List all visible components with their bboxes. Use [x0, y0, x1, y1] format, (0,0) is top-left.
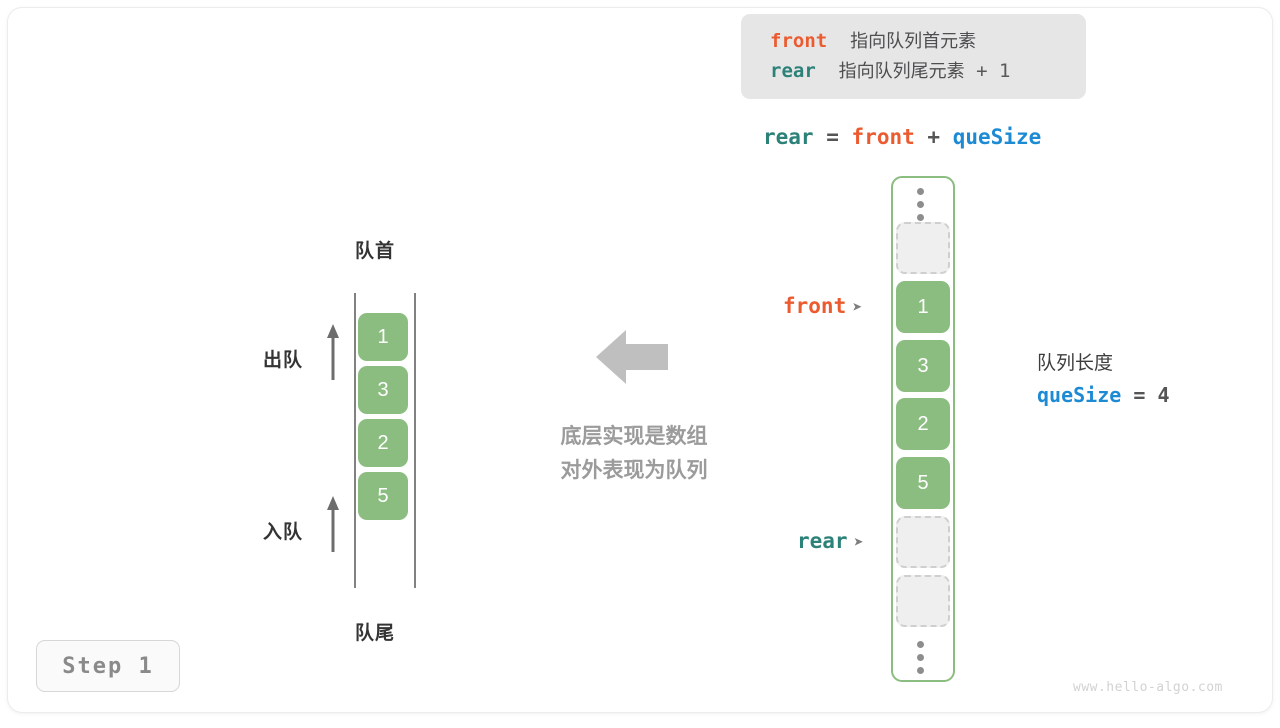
dequeue-label: 出队 — [263, 345, 303, 372]
queue-rail-left — [354, 293, 356, 588]
array-cell-empty — [896, 516, 950, 568]
legend-panel: front 指向队列首元素 rear 指向队列尾元素 + 1 — [741, 14, 1086, 99]
enqueue-label: 入队 — [263, 517, 303, 544]
array-cell-empty — [896, 575, 950, 627]
array-cell-filled: 3 — [896, 340, 950, 392]
queue-size-name: queSize — [1037, 383, 1121, 407]
queue-cell: 2 — [358, 419, 408, 467]
array-cell-empty — [896, 222, 950, 274]
rear-pointer-arrow-icon: ➤ — [854, 533, 864, 553]
center-caption: 底层实现是数组 对外表现为队列 — [536, 420, 732, 488]
rear-pointer: rear➤ — [797, 529, 864, 553]
dequeue-arrow-icon — [325, 324, 341, 380]
watermark: www.hello-algo.com — [1073, 680, 1223, 695]
queue-tail-label: 队尾 — [355, 618, 395, 645]
step-badge: Step 1 — [36, 640, 180, 692]
diagram-canvas: front 指向队列首元素 rear 指向队列尾元素 + 1 rear = fr… — [8, 8, 1272, 712]
enqueue-arrow-icon — [325, 496, 341, 552]
front-pointer-label: front — [783, 294, 846, 318]
formula-front: front — [852, 125, 915, 149]
queue-cell: 5 — [358, 472, 408, 520]
formula-equals: = — [826, 125, 839, 149]
legend-line-rear: rear 指向队列尾元素 + 1 — [741, 56, 1086, 86]
center-caption-line2: 对外表现为队列 — [536, 454, 732, 488]
queue-size-value: 4 — [1157, 383, 1169, 407]
formula-plus: + — [927, 125, 940, 149]
array-bottom-ellipsis — [917, 641, 925, 680]
formula-quesize: queSize — [953, 125, 1042, 149]
legend-rear-description: 指向队列尾元素 — [839, 61, 965, 81]
legend-rear-suffix: + 1 — [976, 60, 1010, 82]
legend-front-keyword: front — [770, 30, 827, 52]
legend-front-description: 指向队列首元素 — [850, 31, 976, 51]
queue-rail-right — [414, 293, 416, 588]
queue-size-equals: = — [1133, 383, 1145, 407]
legend-rear-keyword: rear — [770, 60, 816, 82]
front-pointer: front➤ — [783, 294, 862, 318]
array-cell-filled: 1 — [896, 281, 950, 333]
queue-cell: 3 — [358, 366, 408, 414]
pointer-formula: rear = front + queSize — [763, 125, 1041, 149]
rear-pointer-label: rear — [797, 529, 848, 553]
queue-size-expression: queSize = 4 — [1037, 379, 1169, 411]
array-cell-filled: 5 — [896, 457, 950, 509]
queue-size-note: 队列长度 queSize = 4 — [1037, 349, 1169, 411]
front-pointer-arrow-icon: ➤ — [852, 298, 862, 318]
array-cell-filled: 2 — [896, 398, 950, 450]
center-caption-line1: 底层实现是数组 — [536, 420, 732, 454]
queue-cell: 1 — [358, 313, 408, 361]
left-arrow-icon — [596, 326, 668, 388]
queue-size-caption: 队列长度 — [1037, 349, 1169, 379]
legend-line-front: front 指向队列首元素 — [741, 26, 1086, 56]
formula-rear: rear — [763, 125, 814, 149]
queue-head-label: 队首 — [355, 236, 395, 263]
